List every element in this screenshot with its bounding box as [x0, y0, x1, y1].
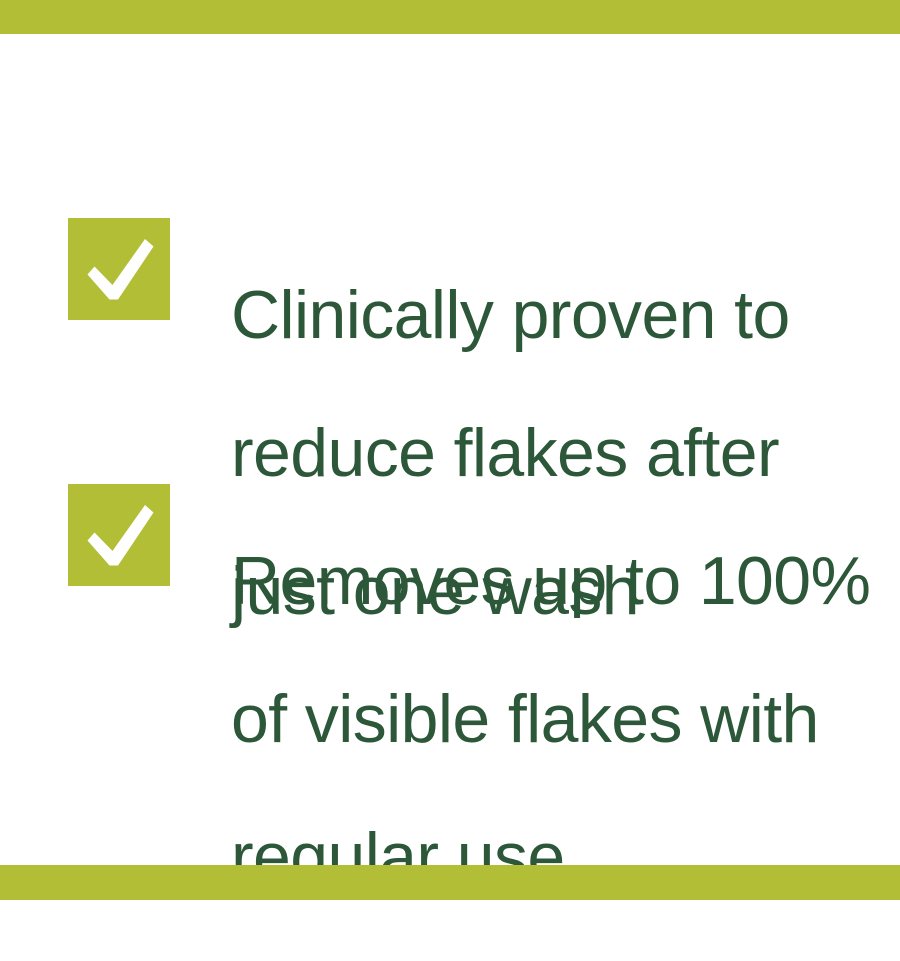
check-icon [68, 218, 170, 320]
benefit-line: Removes up to 100% [231, 547, 870, 616]
bottom-accent-bar [0, 865, 900, 900]
check-icon [68, 484, 170, 586]
benefits-card: Clinically proven to reduce flakes after… [0, 0, 900, 900]
benefit-line: Clinically proven to [231, 281, 790, 350]
benefit-line: of visible flakes with [231, 685, 870, 754]
benefits-list: Clinically proven to reduce flakes after… [0, 0, 900, 900]
